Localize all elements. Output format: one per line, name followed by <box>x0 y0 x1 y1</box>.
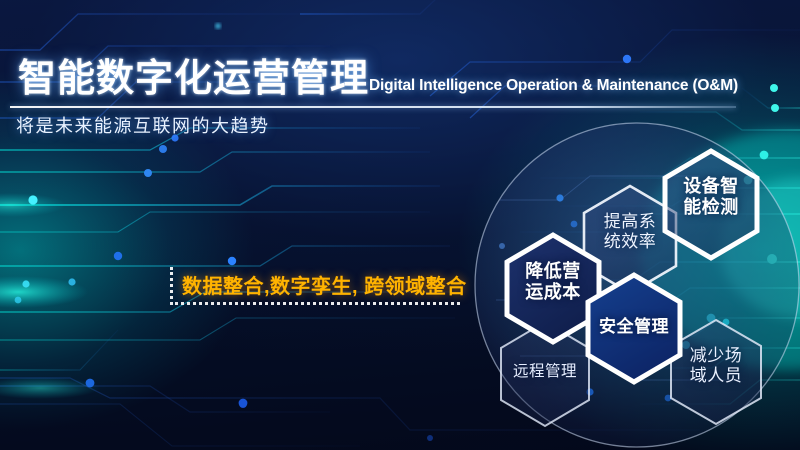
hexagon-reduce-operating-cost[interactable] <box>507 235 599 342</box>
slide-root: 智能数字化运营管理 Digital Intelligence Operation… <box>0 0 800 450</box>
hexagon-shapes <box>0 0 800 450</box>
hexagon-equipment-smart-detection[interactable] <box>665 151 757 258</box>
hexagon-reduce-onsite-staff[interactable] <box>671 320 761 424</box>
hexagon-cluster: 设备智 能检测 提高系 统效率 降低营 运成本 安全管理 远程管理 减少场 域人… <box>0 0 800 450</box>
hexagon-safety-management[interactable] <box>588 275 680 382</box>
